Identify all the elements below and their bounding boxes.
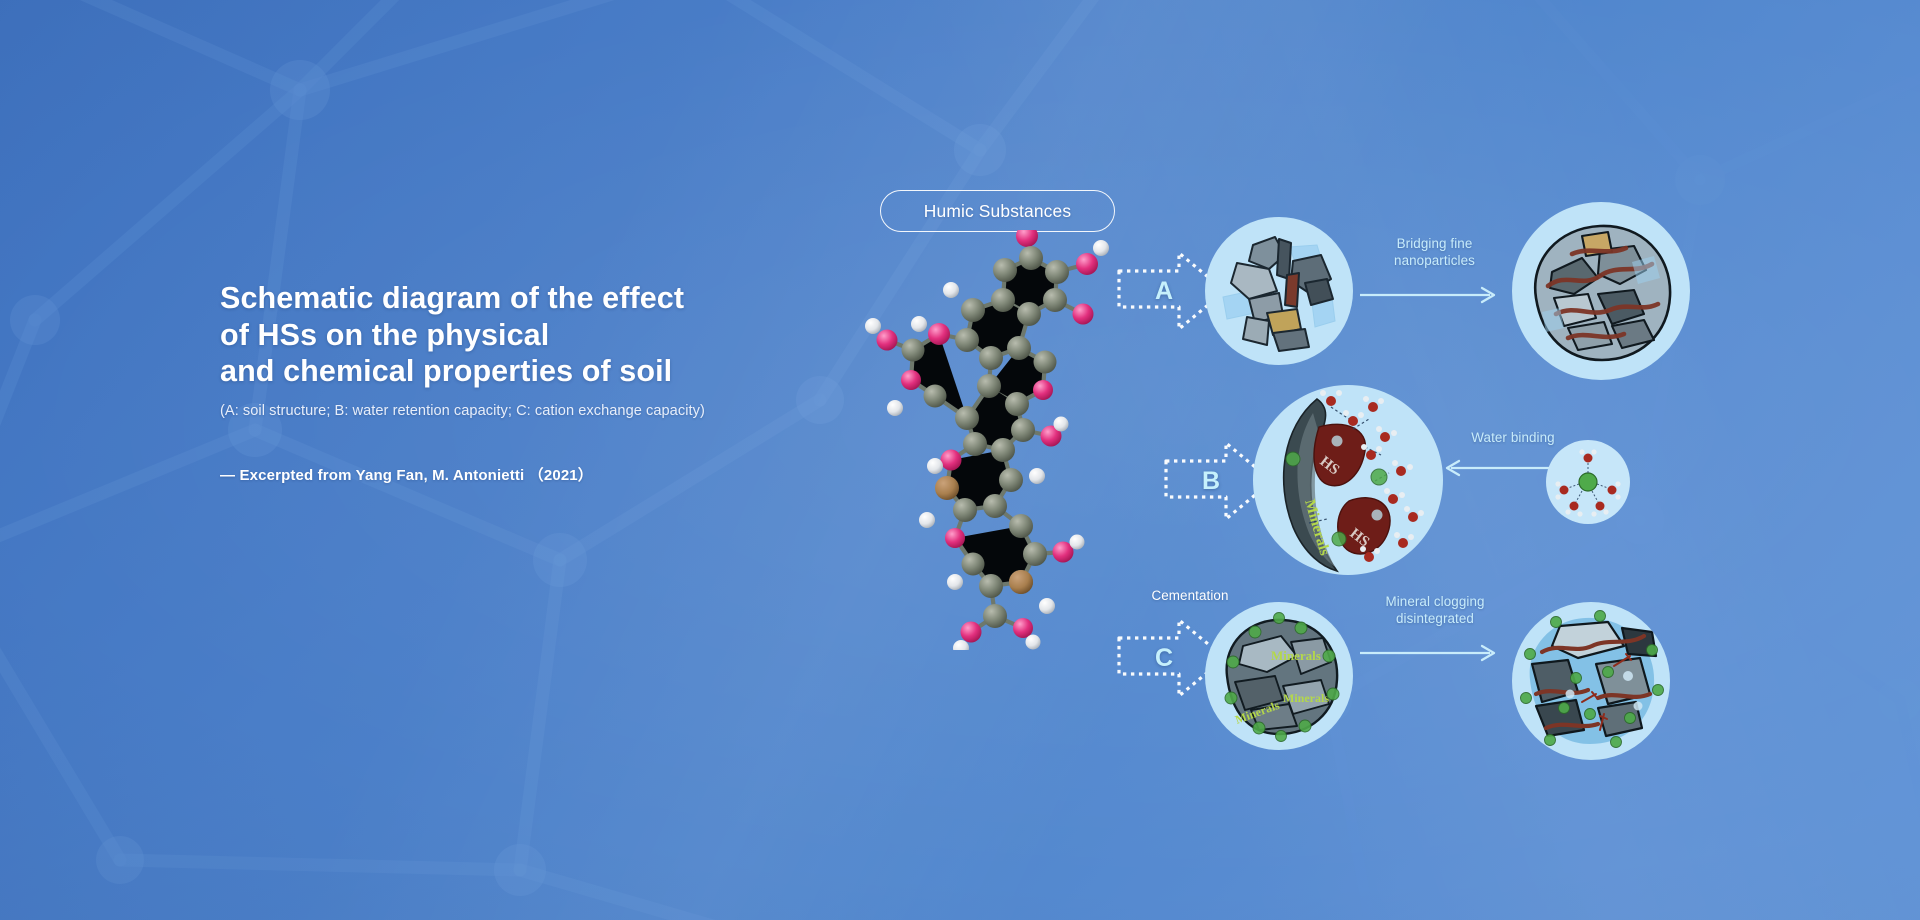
panel-humic-mineral-water: Minerals HS HS	[1253, 385, 1443, 575]
process-label-b: Water binding	[1438, 430, 1588, 447]
stage-marker-c-text: C	[1155, 644, 1173, 673]
minerals-annotation-c2: Minerals	[1283, 691, 1329, 705]
minerals-annotation-c1: Minerals	[1271, 648, 1321, 663]
page-title-line-1: Schematic diagram of the effect	[220, 280, 940, 317]
page-title-line-3: and chemical properties of soil	[220, 353, 940, 390]
figure-caption: (A: soil structure; B: water retention c…	[220, 401, 940, 421]
panel-soil-aggregate-bridged	[1512, 202, 1690, 380]
humic-substances-label-text: Humic Substances	[924, 201, 1071, 222]
process-label-a-text: Bridging fine nanoparticles	[1394, 236, 1475, 268]
panel-soil-aggregate-loose	[1205, 217, 1353, 365]
page-title: Schematic diagram of the effect of HSs o…	[220, 280, 940, 390]
stage-marker-a-text: A	[1155, 277, 1173, 306]
stage-marker-b-text: B	[1202, 467, 1220, 496]
process-arrow-a	[1358, 282, 1508, 308]
panel-water-cluster	[1546, 440, 1630, 524]
process-label-c: Mineral clogging disintegrated	[1355, 594, 1515, 627]
source-attribution: — Excerpted from Yang Fan, M. Antonietti…	[220, 464, 940, 485]
cementation-label: Cementation	[1125, 588, 1255, 605]
process-label-a: Bridging fine nanoparticles	[1357, 236, 1512, 269]
page-title-line-2: of HSs on the physical	[220, 317, 940, 354]
panel-mineral-disintegrated	[1512, 602, 1670, 760]
process-label-b-text: Water binding	[1471, 430, 1554, 445]
process-label-c-text: Mineral clogging disintegrated	[1385, 594, 1484, 626]
humic-substances-label: Humic Substances	[880, 190, 1115, 232]
panel-mineral-cemented: Minerals Minerals Minerals	[1205, 602, 1353, 750]
cementation-label-text: Cementation	[1151, 588, 1228, 603]
title-block: Schematic diagram of the effect of HSs o…	[220, 280, 940, 485]
process-arrow-c	[1358, 640, 1508, 666]
